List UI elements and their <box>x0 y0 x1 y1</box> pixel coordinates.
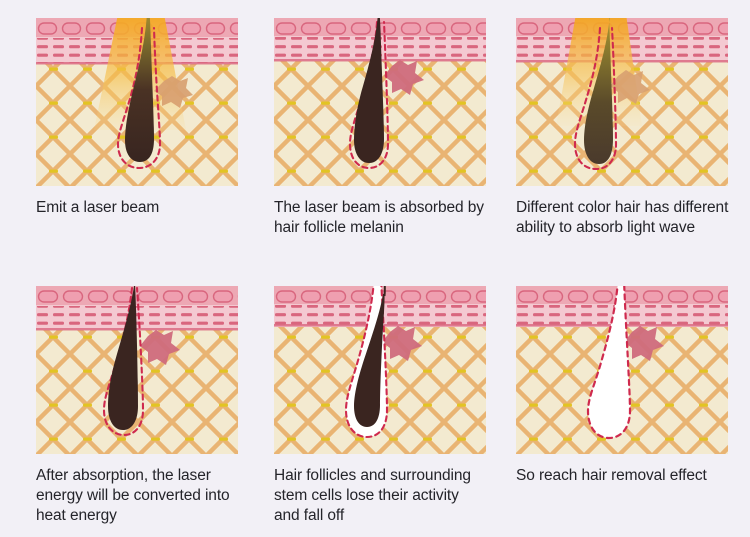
panel-3: Different color hair has different abili… <box>500 0 750 268</box>
panel-4-caption: After absorption, the laser energy will … <box>36 466 236 526</box>
panel-1-figure <box>36 18 238 186</box>
panel-3-caption: Different color hair has different abili… <box>516 198 731 238</box>
skin-cross-section-color-absorption <box>516 18 728 186</box>
skin-cross-section-laser-emitted <box>36 18 238 186</box>
panel-6-caption: So reach hair removal effect <box>516 466 731 486</box>
panel-3-figure <box>516 18 728 186</box>
panel-4-figure <box>36 286 238 454</box>
skin-cross-section-heat-conversion <box>36 286 238 454</box>
skin-cross-section-detaching <box>274 286 486 454</box>
panel-5-figure <box>274 286 486 454</box>
skin-cross-section-empty-follicle <box>516 286 728 454</box>
panel-2-caption: The laser beam is absorbed by hair folli… <box>274 198 486 238</box>
panel-1: Emit a laser beam <box>0 0 250 268</box>
infographic-grid: Emit a laser beam <box>0 0 750 537</box>
panel-5: Hair follicles and surrounding stem cell… <box>250 268 500 537</box>
panel-6-figure <box>516 286 728 454</box>
panel-1-caption: Emit a laser beam <box>36 198 236 218</box>
panel-2-figure <box>274 18 486 186</box>
panel-5-caption: Hair follicles and surrounding stem cell… <box>274 466 486 526</box>
panel-4: After absorption, the laser energy will … <box>0 268 250 537</box>
skin-cross-section-absorbed <box>274 18 486 186</box>
panel-2: The laser beam is absorbed by hair folli… <box>250 0 500 268</box>
panel-6: So reach hair removal effect <box>500 268 750 537</box>
